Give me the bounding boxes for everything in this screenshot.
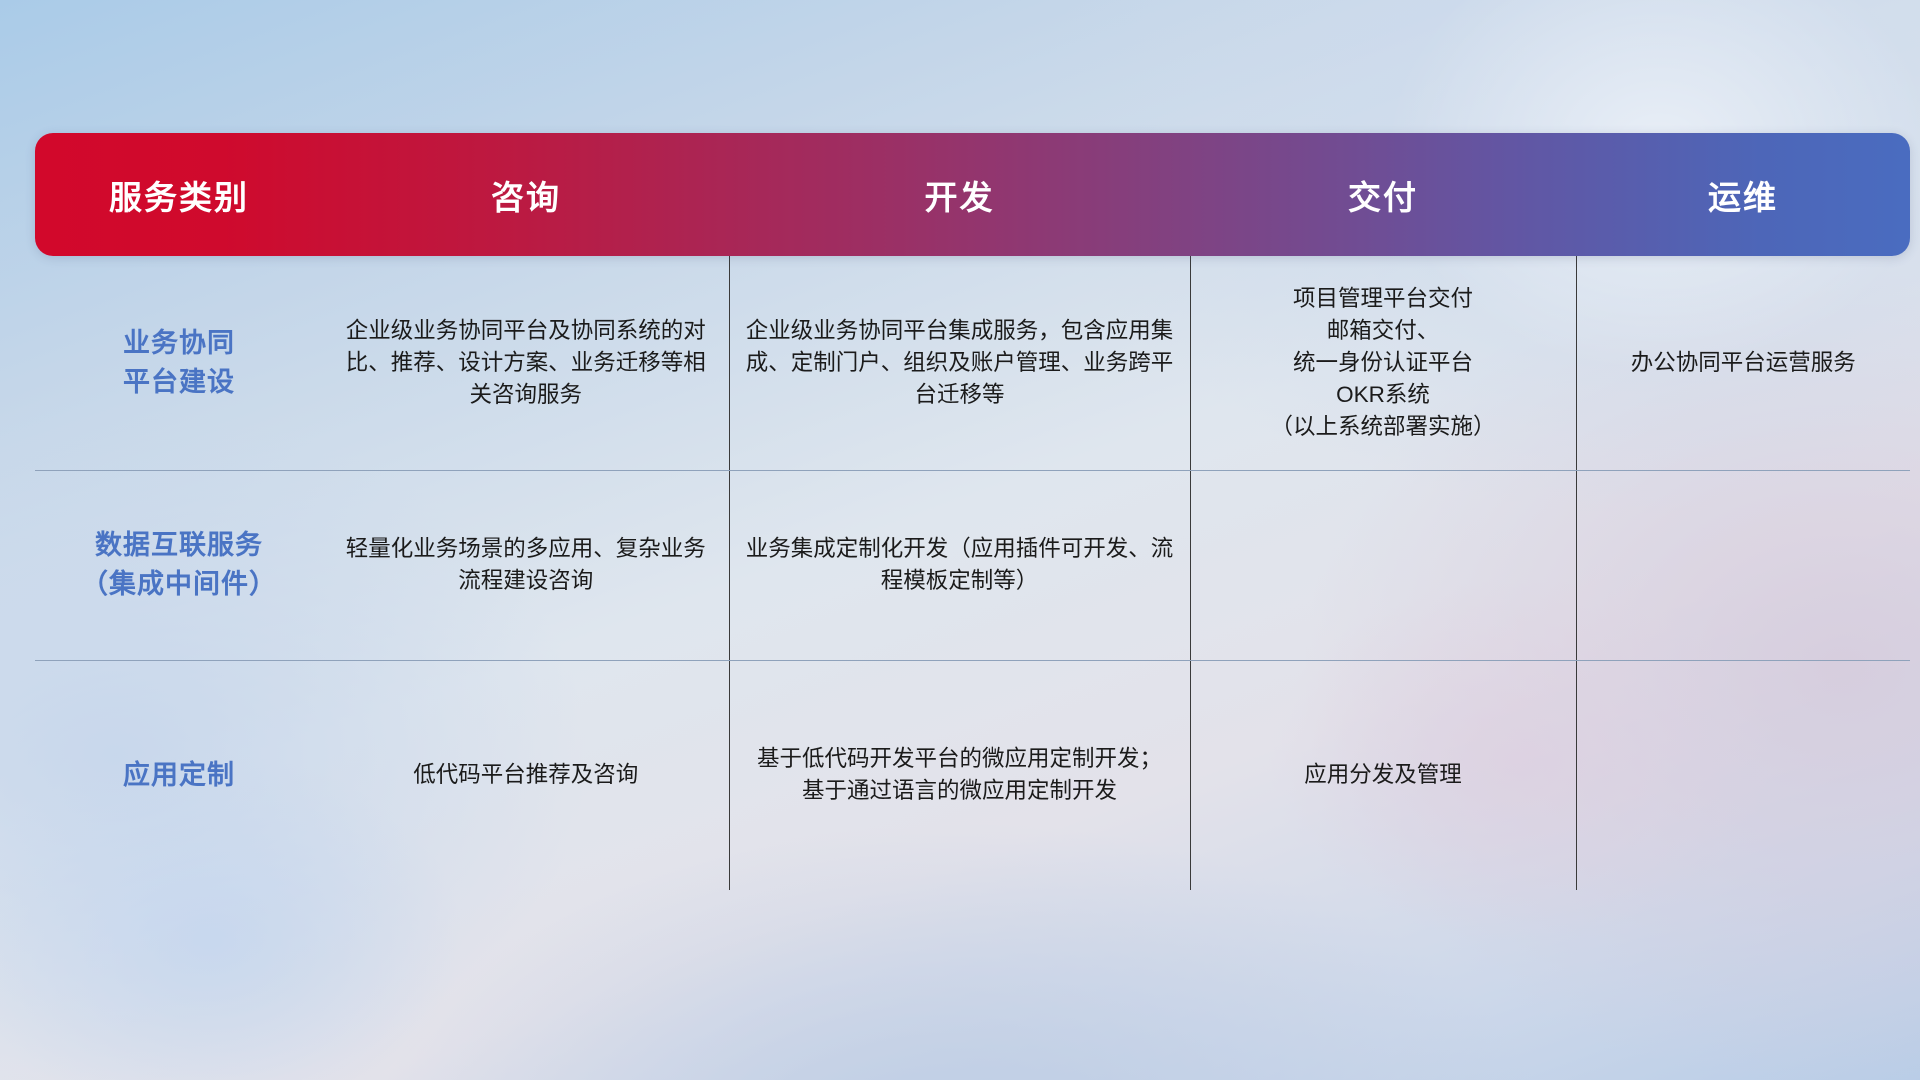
cell-delivery: 项目管理平台交付 邮箱交付、 统一身份认证平台 OKR系统 （以上系统部署实施） [1190,256,1576,470]
column-header-operations-label: 运维 [1708,179,1778,216]
table-header: 服务类别 咨询 开发 交付 运维 [35,133,1910,256]
cell-consulting: 低代码平台推荐及咨询 [323,660,729,890]
cell-development: 企业级业务协同平台集成服务，包含应用集成、定制门户、组织及账户管理、业务跨平台迁… [729,256,1190,470]
cell-operations [1576,660,1910,890]
column-header-consulting-label: 咨询 [491,179,561,216]
column-header-category: 服务类别 [35,133,323,256]
row-category-label: 应用定制 [35,660,323,890]
column-header-development-label: 开发 [925,179,995,216]
row-category-label: 数据互联服务 （集成中间件） [35,470,323,660]
column-header-category-label: 服务类别 [109,179,249,216]
cell-development: 基于低代码开发平台的微应用定制开发； 基于通过语言的微应用定制开发 [729,660,1190,890]
service-matrix-table: 服务类别 咨询 开发 交付 运维 业务协同 平台建设 企业级业务协同平台及协同 [35,133,1910,890]
table-row: 应用定制 低代码平台推荐及咨询 基于低代码开发平台的微应用定制开发； 基于通过语… [35,660,1910,890]
service-matrix-table-container: 服务类别 咨询 开发 交付 运维 业务协同 平台建设 企业级业务协同平台及协同 [35,133,1910,961]
cell-consulting: 轻量化业务场景的多应用、复杂业务流程建设咨询 [323,470,729,660]
cell-development: 业务集成定制化开发（应用插件可开发、流程模板定制等） [729,470,1190,660]
cell-operations [1576,470,1910,660]
table-row: 业务协同 平台建设 企业级业务协同平台及协同系统的对比、推荐、设计方案、业务迁移… [35,256,1910,470]
cell-consulting: 企业级业务协同平台及协同系统的对比、推荐、设计方案、业务迁移等相关咨询服务 [323,256,729,470]
column-header-operations: 运维 [1576,133,1910,256]
column-header-delivery: 交付 [1190,133,1576,256]
cell-delivery: 应用分发及管理 [1190,660,1576,890]
table-body: 业务协同 平台建设 企业级业务协同平台及协同系统的对比、推荐、设计方案、业务迁移… [35,256,1910,890]
cell-operations: 办公协同平台运营服务 [1576,256,1910,470]
table-row: 数据互联服务 （集成中间件） 轻量化业务场景的多应用、复杂业务流程建设咨询 业务… [35,470,1910,660]
column-header-consulting: 咨询 [323,133,729,256]
header-row: 服务类别 咨询 开发 交付 运维 [35,133,1910,256]
column-header-delivery-label: 交付 [1348,179,1418,216]
column-header-development: 开发 [729,133,1190,256]
cell-delivery [1190,470,1576,660]
row-category-label: 业务协同 平台建设 [35,256,323,470]
